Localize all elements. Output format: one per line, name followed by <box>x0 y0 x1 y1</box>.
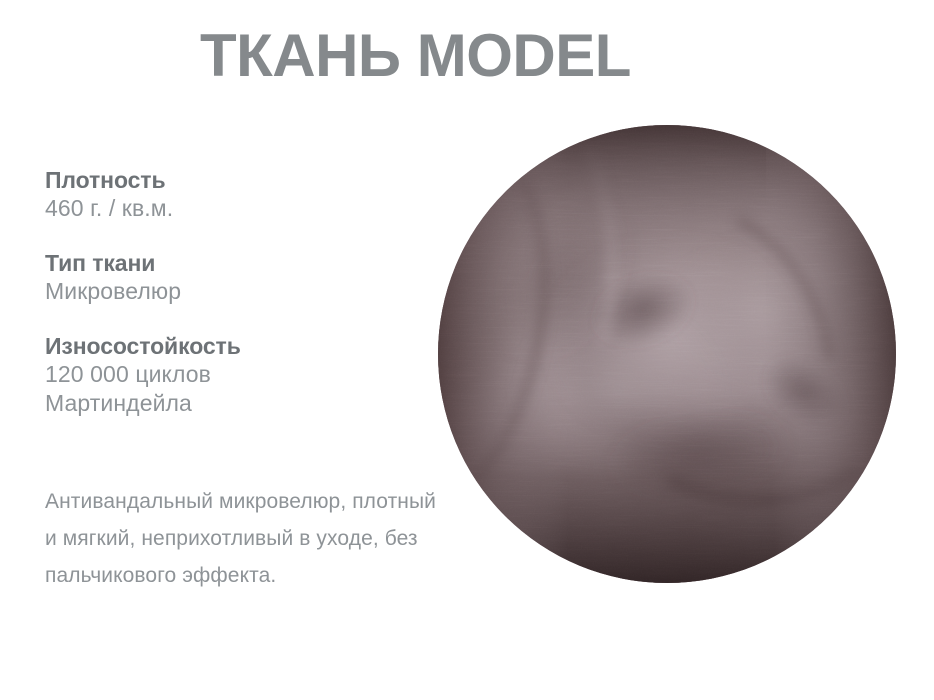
spec-item-fabric-type: Тип ткани Микровелюр <box>45 249 425 306</box>
spec-value: Микровелюр <box>45 277 425 306</box>
spec-label: Износостойкость <box>45 332 425 360</box>
spec-label: Плотность <box>45 166 425 194</box>
fabric-illustration <box>438 125 896 583</box>
fabric-photo <box>438 125 896 583</box>
fabric-spec-card: ТКАНЬ MODEL Плотность 460 г. / кв.м. Тип… <box>0 0 934 700</box>
spec-label: Тип ткани <box>45 249 425 277</box>
spec-item-durability: Износостойкость 120 000 циклов Мартиндей… <box>45 332 425 418</box>
spec-value: 460 г. / кв.м. <box>45 194 425 223</box>
description-text: Антивандальный микровелюр, плотный и мяг… <box>45 484 445 595</box>
spec-value: 120 000 циклов Мартиндейла <box>45 360 305 418</box>
page-title: ТКАНЬ MODEL <box>200 24 840 87</box>
spec-item-density: Плотность 460 г. / кв.м. <box>45 166 425 223</box>
spec-list: Плотность 460 г. / кв.м. Тип ткани Микро… <box>45 166 425 444</box>
